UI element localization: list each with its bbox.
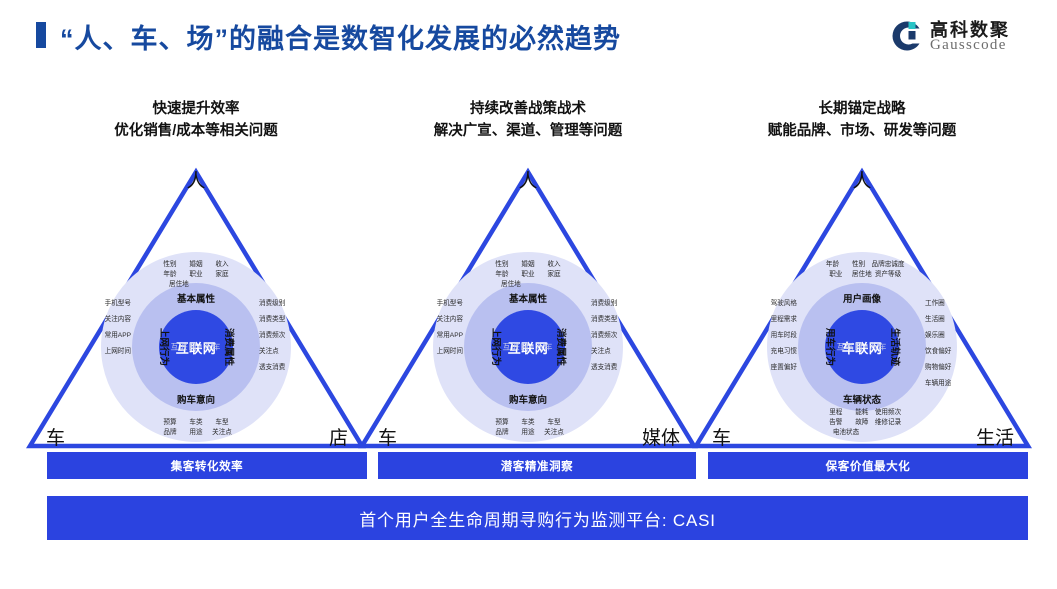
outer-item: 生活圈 — [925, 312, 991, 328]
outer-item: 透支消费 — [259, 360, 325, 376]
outer-item: 消费类型 — [591, 312, 657, 328]
outer-item: 上网时间 — [69, 344, 131, 360]
outer-items-left: 驾驶风格 里程需求 用车时段 充电习惯 座置偏好 — [735, 296, 797, 376]
outer-item: 充电习惯 — [735, 344, 797, 360]
ring-label-bottom: 购车意向 — [509, 392, 547, 406]
triangle-diagram: 人 车 生活 车联网 互联网+汽车 用户画像 车辆状态 用车行为 生活轨迹 年龄… — [692, 160, 1032, 452]
outer-item: 告警 — [823, 418, 849, 428]
outer-item: 职业 — [183, 270, 209, 280]
ring-label-bottom: 车辆状态 — [843, 392, 881, 406]
outer-item: 收入 — [209, 260, 235, 270]
page-title: “人、车、场”的融合是数智化发展的必然趋势 — [60, 17, 621, 56]
outer-item: 关注点 — [591, 344, 657, 360]
concentric-circles: 车联网 互联网+汽车 用户画像 车辆状态 用车行为 生活轨迹 年龄性别品牌忠诚度… — [767, 252, 957, 442]
corner-label-bottom-right: 生活 — [976, 423, 1014, 450]
outer-items-left: 手机型号 关注内容 常用APP 上网时间 — [69, 296, 131, 360]
outer-items-right: 消费级别 消费类型 消费频次 关注点 透支消费 — [259, 296, 325, 376]
outer-item: 性别 — [157, 260, 183, 270]
outer-item: 收入 — [541, 260, 567, 270]
outer-items-right: 工作圈 生活圈 娱乐圈 饮食偏好 购物偏好 车辆用途 — [925, 296, 991, 392]
outer-item: 购物偏好 — [925, 360, 991, 376]
ring-label-right: 生活轨迹 — [889, 328, 903, 366]
outer-item: 手机型号 — [69, 296, 131, 312]
summary-bar-1: 集客转化效率 — [47, 452, 367, 479]
triangle-diagram: 人 车 媒体 互联网 互联网+汽车 基本属性 购车意向 上网行为 消费属性 性别… — [358, 160, 698, 452]
outer-item: 娱乐圈 — [925, 328, 991, 344]
outer-item: 消费级别 — [259, 296, 325, 312]
logo-text-en: Gausscode — [930, 37, 1007, 54]
outer-items-bottom: 预算车类车型 品牌用途关注点 — [489, 418, 567, 438]
column-heading-line2: 赋能品牌、市场、研发等问题 — [692, 120, 1032, 142]
outer-item: 上网时间 — [401, 344, 463, 360]
outer-items-top: 性别婚姻收入 年龄职业家庭 居住地 — [157, 260, 235, 290]
outer-item: 预算 — [157, 418, 183, 428]
outer-item: 品牌忠诚度 — [872, 260, 905, 270]
outer-item: 座置偏好 — [735, 360, 797, 376]
ring-label-right: 消费属性 — [223, 328, 237, 366]
outer-item: 品牌 — [157, 428, 183, 438]
outer-item: 职业 — [515, 270, 541, 280]
column-group-2: 持续改善战策战术 解决广宣、渠道、管理等问题 人 车 媒体 互联网 互联网+汽车… — [358, 98, 698, 458]
corner-label-bottom-left: 车 — [46, 423, 65, 450]
outer-item: 故障 — [849, 418, 875, 428]
column-group-3: 长期锚定战略 赋能品牌、市场、研发等问题 人 车 生活 车联网 互联网+汽车 用… — [692, 98, 1032, 458]
outer-item: 家庭 — [209, 270, 235, 280]
ring-label-left: 上网行为 — [490, 328, 504, 366]
corner-label-bottom-left: 车 — [378, 423, 397, 450]
outer-item: 关注内容 — [401, 312, 463, 328]
outer-item: 能耗 — [849, 408, 875, 418]
ring-label-top: 基本属性 — [177, 291, 215, 305]
outer-item: 预算 — [489, 418, 515, 428]
outer-item: 家庭 — [541, 270, 567, 280]
outer-item: 电池状态 — [833, 428, 859, 438]
ring-label-right: 消费属性 — [555, 328, 569, 366]
outer-item: 居住地 — [849, 270, 875, 280]
outer-item: 常用APP — [69, 328, 131, 344]
corner-label-bottom-left: 车 — [712, 423, 731, 450]
outer-item: 透支消费 — [591, 360, 657, 376]
outer-item: 婚姻 — [515, 260, 541, 270]
outer-item: 消费级别 — [591, 296, 657, 312]
outer-items-bottom: 里程能耗使用频次 告警故障维修记录 电池状态 — [823, 408, 901, 438]
outer-item: 车辆用途 — [925, 376, 991, 392]
platform-banner: 首个用户全生命周期寻购行为监测平台: CASI — [47, 496, 1028, 540]
outer-item: 车类 — [183, 418, 209, 428]
watermark-text: 互联网+汽车 — [837, 342, 888, 353]
outer-item: 年龄 — [820, 260, 846, 270]
outer-item: 工作圈 — [925, 296, 991, 312]
brand-logo: 高科数聚 Gausscode — [890, 14, 1035, 60]
outer-items-left: 手机型号 关注内容 常用APP 上网时间 — [401, 296, 463, 360]
outer-item: 用车时段 — [735, 328, 797, 344]
outer-items-top: 性别婚姻收入 年龄职业家庭 居住地 — [489, 260, 567, 290]
ring-label-bottom: 购车意向 — [177, 392, 215, 406]
concentric-circles: 互联网 互联网+汽车 基本属性 购车意向 上网行为 消费属性 性别婚姻收入 年龄… — [433, 252, 623, 442]
outer-item: 消费频次 — [259, 328, 325, 344]
outer-item: 性别 — [846, 260, 872, 270]
outer-item: 车型 — [209, 418, 235, 428]
outer-item: 消费频次 — [591, 328, 657, 344]
outer-item: 维修记录 — [875, 418, 901, 428]
corner-label-top: 人 — [186, 166, 205, 193]
outer-item: 品牌 — [489, 428, 515, 438]
outer-item: 用途 — [183, 428, 209, 438]
outer-item: 消费类型 — [259, 312, 325, 328]
watermark-text: 互联网+汽车 — [171, 342, 222, 353]
column-heading-line1: 长期锚定战略 — [819, 101, 906, 117]
column-heading-line1: 快速提升效率 — [153, 101, 240, 117]
outer-item: 年龄 — [489, 270, 515, 280]
ring-label-left: 上网行为 — [158, 328, 172, 366]
outer-item: 使用频次 — [875, 408, 901, 418]
ring-label-top: 基本属性 — [509, 291, 547, 305]
outer-item: 居住地 — [501, 280, 527, 290]
page-header: “人、车、场”的融合是数智化发展的必然趋势 高科数聚 Gausscode — [0, 0, 1057, 72]
outer-item: 饮食偏好 — [925, 344, 991, 360]
ring-label-left: 用车行为 — [824, 328, 838, 366]
triangle-diagram: 人 车 店 互联网 互联网+汽车 基本属性 购车意向 上网行为 消费属性 性别婚… — [26, 160, 366, 452]
outer-items-right: 消费级别 消费类型 消费频次 关注点 透支消费 — [591, 296, 657, 376]
outer-item: 年龄 — [157, 270, 183, 280]
watermark-text: 互联网+汽车 — [503, 342, 554, 353]
outer-item: 婚姻 — [183, 260, 209, 270]
outer-item: 居住地 — [169, 280, 195, 290]
column-heading-line2: 优化销售/成本等相关问题 — [26, 120, 366, 142]
outer-item: 手机型号 — [401, 296, 463, 312]
corner-label-top: 人 — [852, 166, 871, 193]
outer-item: 里程需求 — [735, 312, 797, 328]
outer-item: 驾驶风格 — [735, 296, 797, 312]
summary-bar-2: 潜客精准洞察 — [378, 452, 696, 479]
corner-label-bottom-right: 店 — [329, 423, 348, 450]
concentric-circles: 互联网 互联网+汽车 基本属性 购车意向 上网行为 消费属性 性别婚姻收入 年龄… — [101, 252, 291, 442]
outer-item: 里程 — [823, 408, 849, 418]
outer-item: 关注点 — [541, 428, 567, 438]
summary-bar-3: 保客价值最大化 — [708, 452, 1028, 479]
outer-items-top: 年龄性别品牌忠诚度 职业居住地资产等级 — [820, 260, 905, 280]
column-heading: 持续改善战策战术 解决广宣、渠道、管理等问题 — [358, 98, 698, 142]
column-heading-line2: 解决广宣、渠道、管理等问题 — [358, 120, 698, 142]
outer-item: 车型 — [541, 418, 567, 428]
outer-item: 车类 — [515, 418, 541, 428]
column-heading-line1: 持续改善战策战术 — [470, 101, 586, 117]
outer-item: 职业 — [823, 270, 849, 280]
outer-item: 资产等级 — [875, 270, 901, 280]
column-heading: 长期锚定战略 赋能品牌、市场、研发等问题 — [692, 98, 1032, 142]
outer-item: 关注点 — [259, 344, 325, 360]
corner-label-bottom-right: 媒体 — [642, 423, 680, 450]
column-group-1: 快速提升效率 优化销售/成本等相关问题 人 车 店 互联网 互联网+汽车 基本属… — [26, 98, 366, 458]
title-accent-marker — [36, 22, 46, 48]
gausscode-logo-icon — [890, 19, 924, 53]
outer-item: 常用APP — [401, 328, 463, 344]
outer-items-bottom: 预算车类车型 品牌用途关注点 — [157, 418, 235, 438]
column-heading: 快速提升效率 优化销售/成本等相关问题 — [26, 98, 366, 142]
outer-item: 关注内容 — [69, 312, 131, 328]
corner-label-top: 人 — [518, 166, 537, 193]
ring-label-top: 用户画像 — [843, 291, 881, 305]
outer-item: 用途 — [515, 428, 541, 438]
outer-item: 关注点 — [209, 428, 235, 438]
outer-item: 性别 — [489, 260, 515, 270]
